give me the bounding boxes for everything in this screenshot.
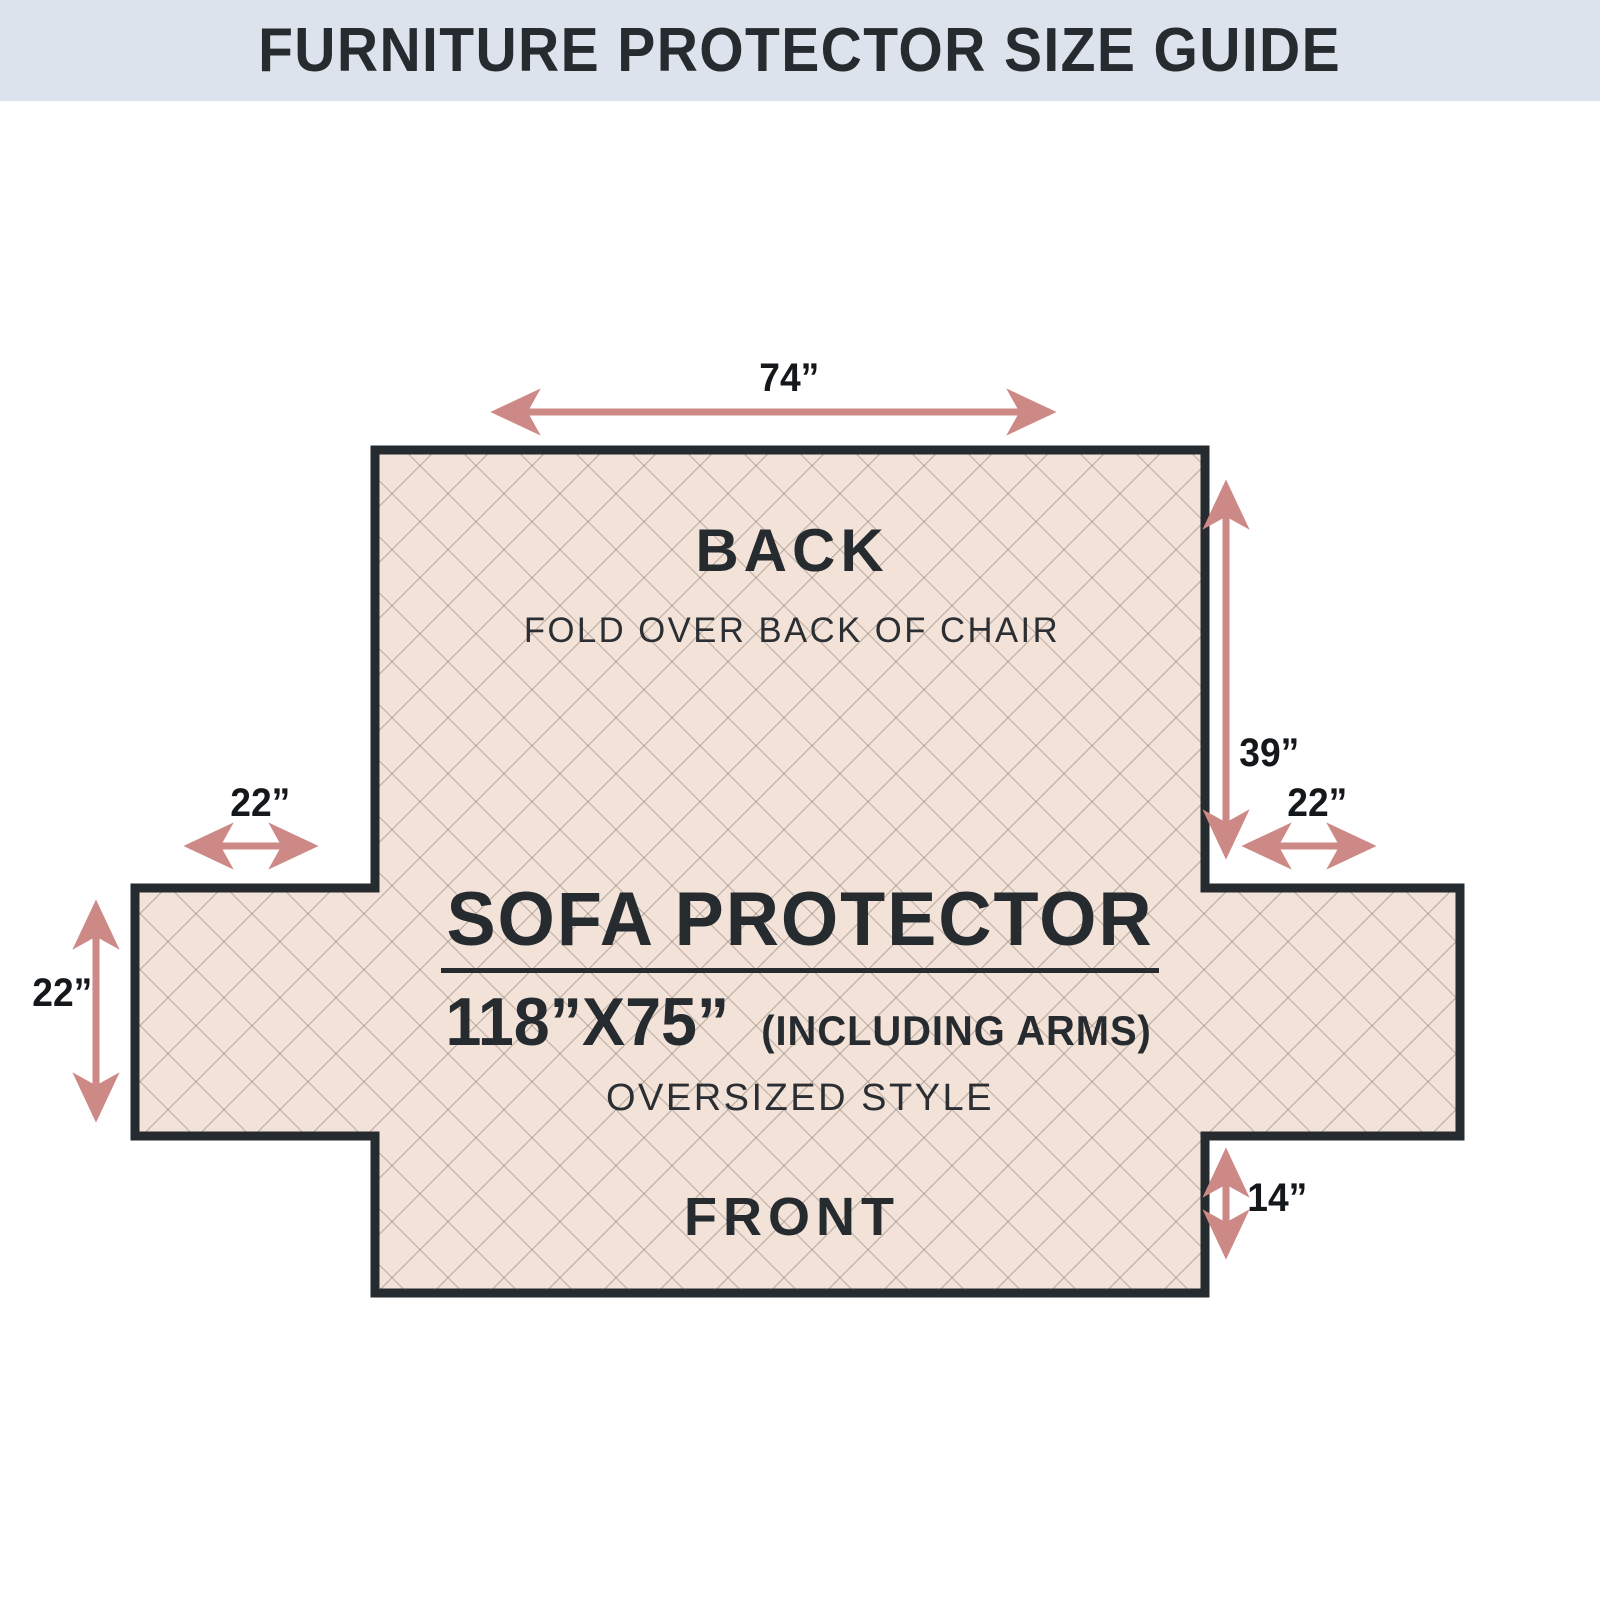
front-panel-label: FRONT xyxy=(0,1186,1592,1248)
product-dimensions-note: (INCLUDING ARMS) xyxy=(761,1007,1152,1055)
dimension-label-14: 14” xyxy=(1247,1176,1307,1221)
header-banner: FURNITURE PROTECTOR SIZE GUIDE xyxy=(0,0,1600,101)
back-panel-instruction: FOLD OVER BACK OF CHAIR xyxy=(0,611,1584,651)
dimension-label-22-left-arm: 22” xyxy=(230,781,290,826)
protector-diagram xyxy=(0,101,1600,1600)
dimension-label-74: 74” xyxy=(759,356,819,401)
dimension-label-39: 39” xyxy=(1239,731,1299,776)
page-title: FURNITURE PROTECTOR SIZE GUIDE xyxy=(259,15,1342,86)
dimension-label-22-arm-depth: 22” xyxy=(32,971,92,1016)
product-name: SOFA PROTECTOR xyxy=(257,881,1343,959)
product-dimensions: 118”X75” xyxy=(446,983,730,1061)
product-style: OVERSIZED STYLE xyxy=(240,1077,1360,1120)
divider-rule xyxy=(441,968,1159,973)
diagram-stage: BACK FOLD OVER BACK OF CHAIR SOFA PROTEC… xyxy=(0,101,1600,1600)
dimension-label-22-right-arm: 22” xyxy=(1287,781,1347,826)
product-info-block: SOFA PROTECTOR 118”X75” (INCLUDING ARMS)… xyxy=(240,881,1360,1120)
back-panel-label: BACK xyxy=(0,516,1592,585)
product-dimensions-row: 118”X75” (INCLUDING ARMS) xyxy=(240,983,1360,1061)
